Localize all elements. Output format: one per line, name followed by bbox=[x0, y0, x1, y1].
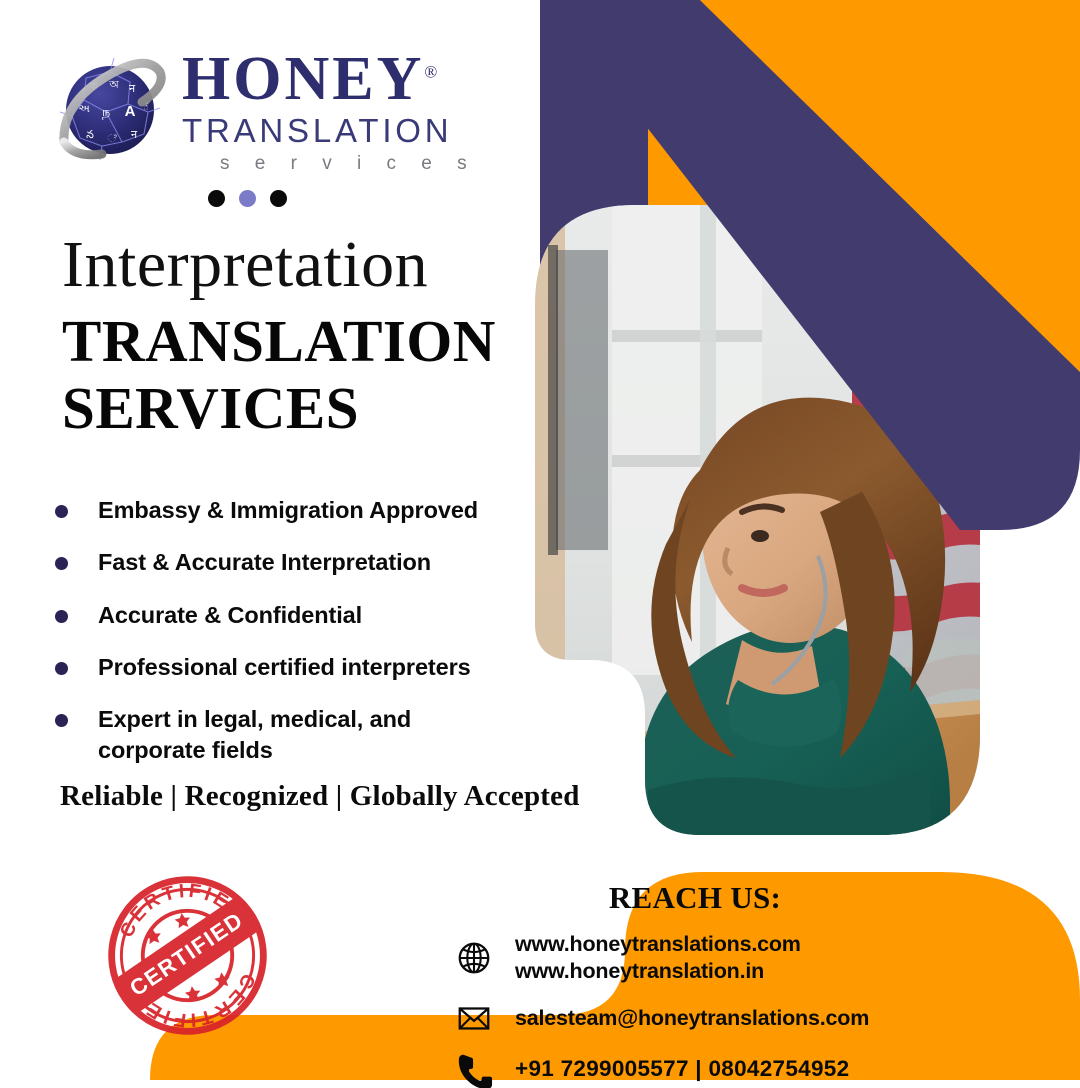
svg-text:A: A bbox=[125, 103, 136, 120]
logo-line-services: s e r v i c e s bbox=[182, 153, 477, 175]
svg-text:న: న bbox=[86, 129, 94, 141]
phone-numbers[interactable]: +91 7299005577 | 08042754952 bbox=[515, 1055, 849, 1083]
list-item: Expert in legal, medical, and corporate … bbox=[55, 704, 525, 767]
list-item-label: Fast & Accurate Interpretation bbox=[98, 547, 431, 578]
website-secondary[interactable]: www.honeytranslation.in bbox=[515, 958, 801, 985]
svg-text:न: न bbox=[131, 129, 138, 141]
bullet-dot-icon bbox=[55, 610, 68, 623]
contact-row-website[interactable]: www.honeytranslations.com www.honeytrans… bbox=[455, 931, 1055, 985]
headline-line-2: SERVICES bbox=[62, 375, 496, 442]
divider-dot-1 bbox=[208, 190, 225, 207]
divider-dot-2 bbox=[239, 190, 256, 207]
bullet-dot-icon bbox=[55, 505, 68, 518]
bullet-dot-icon bbox=[55, 714, 68, 727]
logo-brand-name: HONEY® bbox=[182, 50, 477, 110]
globe-icon bbox=[455, 939, 493, 977]
list-item-label: Accurate & Confidential bbox=[98, 600, 362, 631]
website-primary[interactable]: www.honeytranslations.com bbox=[515, 931, 801, 958]
svg-text:ந: ந bbox=[102, 104, 110, 119]
list-item-label: Expert in legal, medical, and corporate … bbox=[98, 704, 468, 767]
feature-list: Embassy & Immigration Approved Fast & Ac… bbox=[55, 495, 525, 788]
bullet-dot-icon bbox=[55, 662, 68, 675]
certified-stamp: CERTIFIED CERTIFIED CERTIFIED bbox=[100, 868, 275, 1043]
list-item: Fast & Accurate Interpretation bbox=[55, 547, 525, 578]
list-item-label: Embassy & Immigration Approved bbox=[98, 495, 478, 526]
headline-line-1: TRANSLATION bbox=[62, 308, 496, 375]
contact-heading: REACH US: bbox=[455, 880, 935, 916]
contact-block: REACH US: www.honeytranslations.com www.… bbox=[455, 880, 1055, 1088]
headline-script: Interpretation bbox=[62, 232, 496, 298]
globe-languages-icon: ক অ न અ ந A ్ న ೆ न bbox=[56, 50, 168, 172]
svg-text:অ: অ bbox=[108, 79, 119, 91]
list-item-label: Professional certified interpreters bbox=[98, 652, 471, 683]
contact-row-phone[interactable]: +91 7299005577 | 08042754952 bbox=[455, 1050, 1055, 1088]
brand-logo[interactable]: ক অ न અ ந A ్ న ೆ न HONEY® TRANSLATION s… bbox=[56, 46, 477, 175]
bullet-dot-icon bbox=[55, 557, 68, 570]
divider-dot-3 bbox=[270, 190, 287, 207]
email-address[interactable]: salesteam@honeytranslations.com bbox=[515, 1005, 869, 1032]
logo-line-translation: TRANSLATION bbox=[182, 112, 477, 151]
list-item: Accurate & Confidential bbox=[55, 600, 525, 631]
headline-block: Interpretation TRANSLATION SERVICES bbox=[62, 232, 496, 441]
list-item: Embassy & Immigration Approved bbox=[55, 495, 525, 526]
registered-trademark-icon: ® bbox=[424, 62, 437, 81]
svg-text:ೆ: ೆ bbox=[107, 133, 117, 145]
contact-row-email[interactable]: salesteam@honeytranslations.com bbox=[455, 999, 1055, 1037]
tagline: Reliable | Recognized | Globally Accepte… bbox=[60, 780, 580, 813]
envelope-icon bbox=[455, 999, 493, 1037]
phone-icon bbox=[455, 1050, 493, 1088]
svg-text:न: न bbox=[129, 83, 136, 95]
list-item: Professional certified interpreters bbox=[55, 652, 525, 683]
logo-dot-divider bbox=[208, 190, 287, 207]
